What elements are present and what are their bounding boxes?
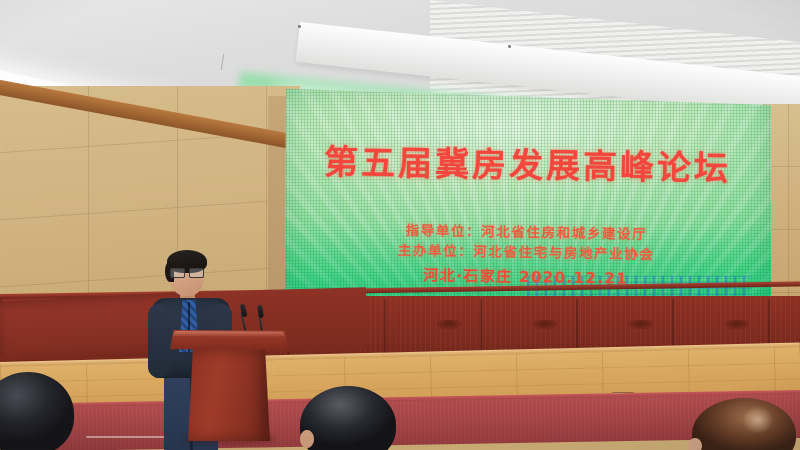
glasses-lens-left (170, 268, 185, 278)
wainscot-ornament (530, 320, 560, 329)
audience-hair-highlight (736, 404, 780, 444)
conference-hall-photo: 第五届冀房发展高峰论坛 指导单位：河北省住房和城乡建设厅 主办单位：河北省住宅与… (0, 0, 800, 450)
glasses-lens-right (189, 268, 204, 278)
led-text-block: 第五届冀房发展高峰论坛 指导单位：河北省住房和城乡建设厅 主办单位：河北省住宅与… (283, 86, 771, 307)
led-display-screen: 第五届冀房发展高峰论坛 指导单位：河北省住房和城乡建设厅 主办单位：河北省住宅与… (283, 86, 771, 307)
podium-lectern (170, 330, 288, 440)
podium-top-highlight (172, 331, 286, 337)
ceiling-fixture-dot (298, 25, 301, 28)
wainscot-ornament (626, 320, 656, 329)
wainscot-ornament (722, 320, 752, 329)
forum-title: 第五届冀房发展高峰论坛 (283, 134, 771, 191)
ceiling-fixture-dot (508, 45, 511, 48)
wainscot-ornament (434, 320, 464, 329)
glasses-icon (170, 268, 204, 277)
audience-ear (688, 438, 702, 450)
podium-body (188, 349, 270, 441)
audience-ear (300, 430, 314, 448)
speaker-left-arm (148, 304, 170, 378)
